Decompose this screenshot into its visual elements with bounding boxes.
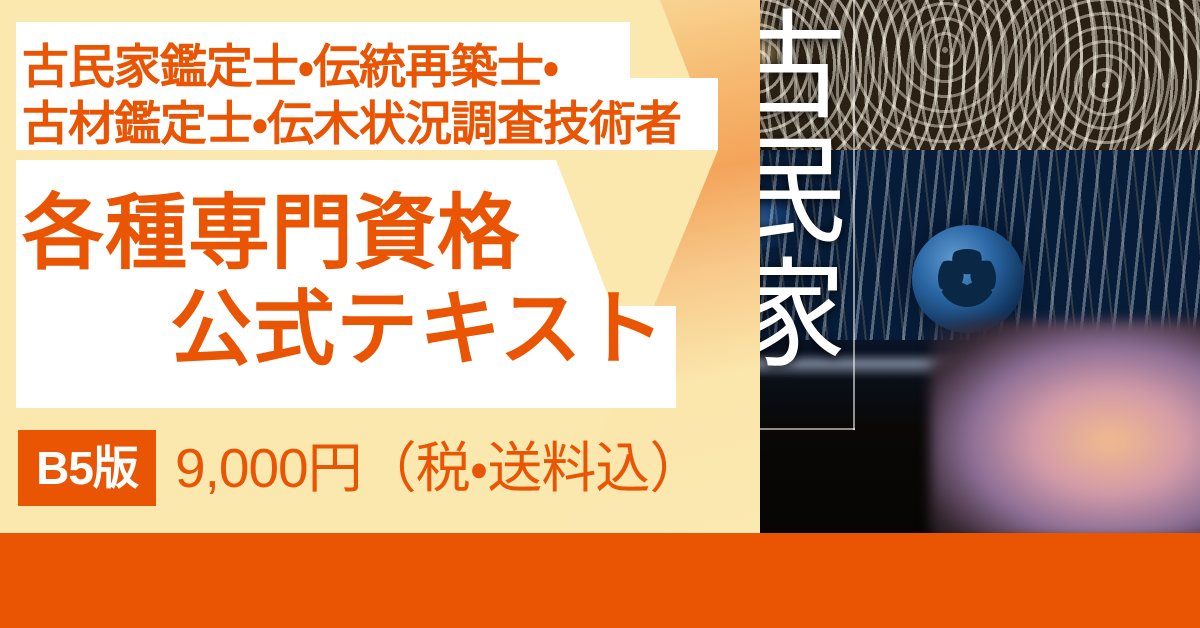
price-label: 9,000円（税・送料込） [175,441,703,496]
family-crest-tile [912,225,1024,333]
promo-banner: 古民家 伝統構法、 古民家活用のための調査と再生の 古民家鑑定士・伝統再築士・ … [0,0,1200,628]
title-line-1: 各種専門資格 [22,193,520,275]
cta-bar[interactable]: 詳細・ご購入はこちら [0,533,1200,628]
cover-warm-glow [930,320,1200,535]
headline-line-1: 古民家鑑定士・伝統再築士・ [22,43,558,90]
headline-line-2: 古材鑑定士・伝木状況調査技術者 [22,100,681,147]
cover-frame-rule-right [853,0,855,430]
size-badge: B5版 [18,430,156,506]
title-line-2: 公式テキスト [170,289,666,371]
